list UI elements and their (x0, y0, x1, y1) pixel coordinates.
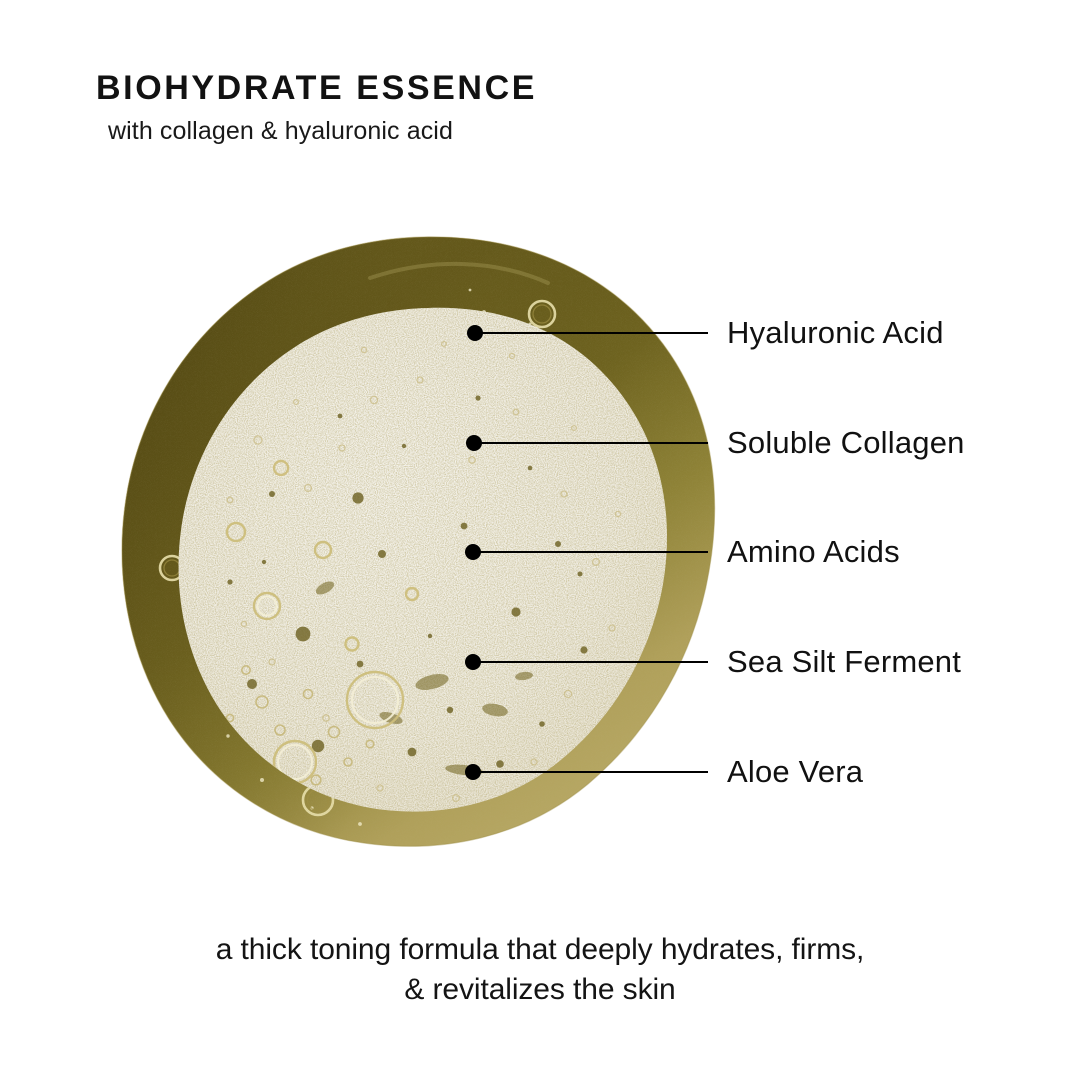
callout-leader-line (477, 771, 708, 773)
gel-swatch-image (112, 232, 722, 850)
page-title: BIOHYDRATE ESSENCE (96, 70, 856, 107)
callout-label-hyaluronic-acid: Hyaluronic Acid (727, 315, 944, 351)
caption-line-2: & revitalizes the skin (90, 970, 990, 1010)
callout-label-amino-acids: Amino Acids (727, 534, 900, 570)
caption-line-1: a thick toning formula that deeply hydra… (90, 930, 990, 970)
callout-label-aloe-vera: Aloe Vera (727, 754, 863, 790)
callout-leader-line (477, 551, 708, 553)
infographic-canvas: BIOHYDRATE ESSENCE with collagen & hyalu… (0, 0, 1080, 1080)
callout-leader-line (477, 661, 708, 663)
callout-leader-line (479, 332, 708, 334)
callout-label-soluble-collagen: Soluble Collagen (727, 425, 965, 461)
callout-leader-line (478, 442, 708, 444)
header-block: BIOHYDRATE ESSENCE with collagen & hyalu… (96, 70, 856, 146)
product-subtitle: with collagen & hyaluronic acid (108, 117, 856, 146)
product-caption: a thick toning formula that deeply hydra… (90, 930, 990, 1010)
gel-swatch-graphic (112, 232, 722, 850)
callout-label-sea-silt-ferment: Sea Silt Ferment (727, 644, 961, 680)
